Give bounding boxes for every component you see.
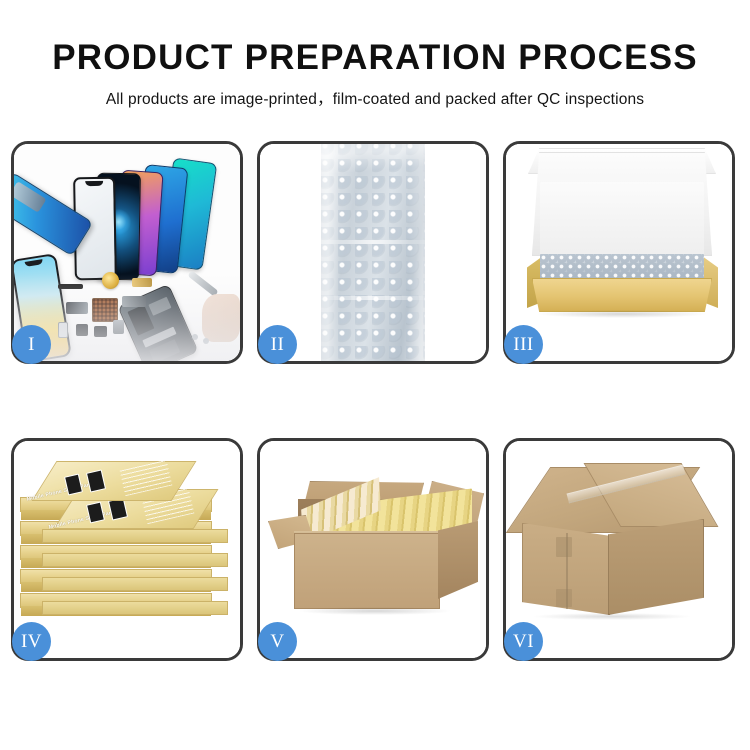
product-preparation-infographic: PRODUCT PREPARATION PROCESS All products… — [0, 0, 750, 750]
page-subtitle: All products are image-printed，film-coat… — [0, 87, 750, 109]
bubble-wrap-seam-2 — [321, 296, 425, 300]
screw-2 — [203, 338, 209, 344]
flex-cable-part-3 — [122, 296, 146, 307]
step-badge-5: V — [258, 622, 297, 661]
carton-shadow — [300, 607, 450, 615]
screw-1 — [192, 334, 198, 340]
small-part-2 — [76, 324, 88, 336]
header: PRODUCT PREPARATION PROCESS All products… — [0, 0, 750, 109]
small-part-3 — [94, 326, 107, 337]
step-badge-4: IV — [12, 622, 51, 661]
carton-side-panel — [438, 521, 478, 599]
steps-grid: I II — [11, 141, 739, 661]
carton-front-panel — [294, 533, 440, 609]
carton-tab-upper — [556, 537, 572, 557]
open-carton-scene — [260, 441, 486, 658]
sealed-carton-side-panel — [608, 519, 704, 615]
step-badge-3: III — [504, 325, 543, 364]
step-panel-4: Mobile Phone Spare Parts Mobile Phone Sp… — [11, 438, 243, 661]
tweezers-tool — [187, 270, 218, 296]
sealed-carton-scene — [506, 441, 732, 658]
small-part-4 — [113, 320, 124, 334]
earpiece-part — [58, 284, 83, 289]
stacked-box-rear-3 — [42, 577, 228, 591]
bubble-wrapped-product — [540, 254, 704, 282]
small-part-1 — [58, 322, 68, 338]
step-panel-6: VI — [503, 438, 735, 661]
step-badge-1: I — [12, 325, 51, 364]
bubble-wrap-strip — [321, 144, 425, 361]
step-image-1 — [14, 144, 240, 361]
chip-grid-part — [92, 298, 118, 322]
step-image-2 — [260, 144, 486, 361]
bubble-wrap-scene — [260, 144, 486, 361]
foam-insert — [540, 182, 704, 258]
box-front-panel — [532, 278, 712, 312]
step-image-3 — [506, 144, 732, 361]
step-badge-6: VI — [504, 622, 543, 661]
stacked-box-rear-1 — [42, 529, 228, 543]
products-scene — [14, 144, 240, 361]
carton-tab-lower — [556, 589, 572, 607]
coil-part-icon — [102, 272, 119, 289]
flex-cable-part-1 — [132, 278, 152, 287]
stacked-box-rear-4 — [42, 601, 228, 615]
sealed-carton-shadow — [534, 613, 690, 620]
step-image-4: Mobile Phone Spare Parts Mobile Phone Sp… — [14, 441, 240, 658]
step-panel-3: III — [503, 141, 735, 364]
bubble-wrap-seam-1 — [321, 240, 425, 244]
phone-back-housing — [117, 284, 198, 361]
step-panel-2: II — [257, 141, 489, 364]
step-panel-5: V — [257, 438, 489, 661]
hand — [202, 294, 240, 342]
inner-box-scene — [506, 144, 732, 361]
page-title: PRODUCT PREPARATION PROCESS — [0, 38, 750, 78]
step-panel-1: I — [11, 141, 243, 364]
box-shadow — [536, 310, 708, 318]
step-badge-2: II — [258, 325, 297, 364]
step-image-5 — [260, 441, 486, 658]
step-image-6 — [506, 441, 732, 658]
flex-cable-part-2 — [66, 302, 88, 314]
stacked-box-rear-2 — [42, 553, 228, 567]
box-stack-scene: Mobile Phone Spare Parts Mobile Phone Sp… — [14, 441, 240, 658]
